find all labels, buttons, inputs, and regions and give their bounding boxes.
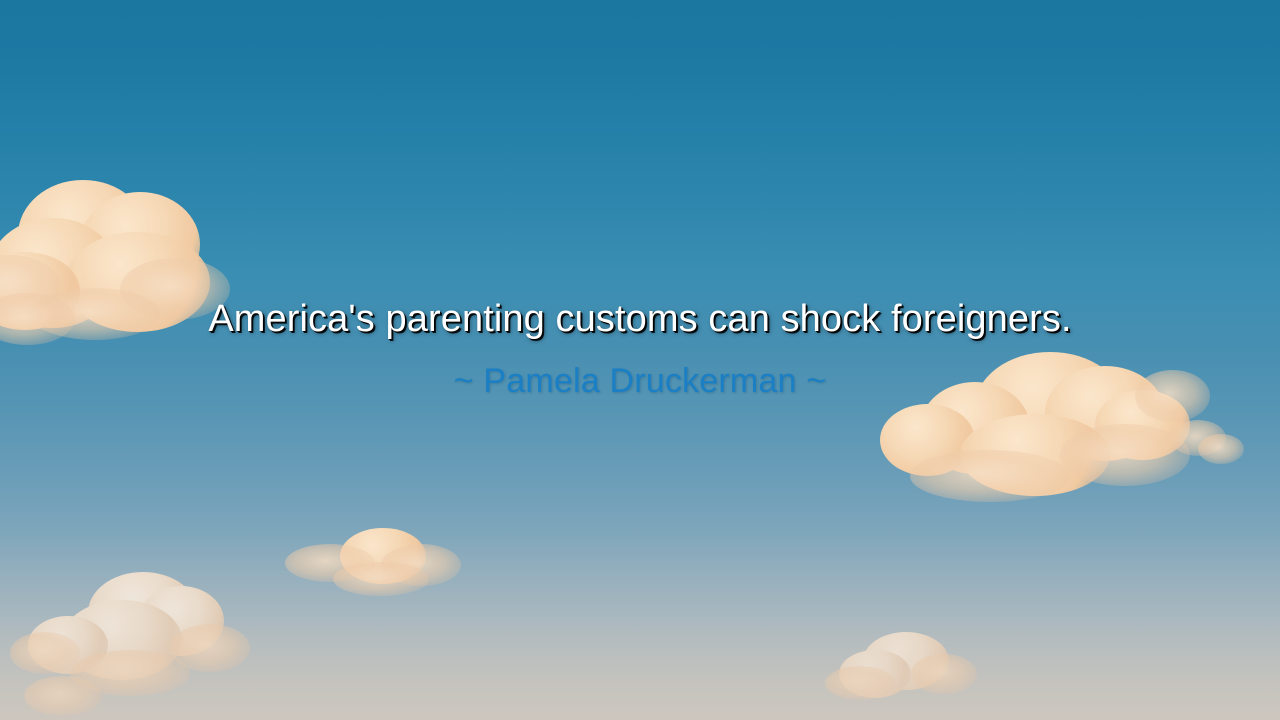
quote-attribution: ~ Pamela Druckerman ~ <box>40 360 1240 402</box>
quote-text: America's parenting customs can shock fo… <box>40 296 1240 342</box>
cloud-right-small <box>1170 420 1250 475</box>
horizon-haze <box>0 530 1280 720</box>
quote-block: America's parenting customs can shock fo… <box>0 296 1280 402</box>
quote-card-canvas: America's parenting customs can shock fo… <box>0 0 1280 720</box>
